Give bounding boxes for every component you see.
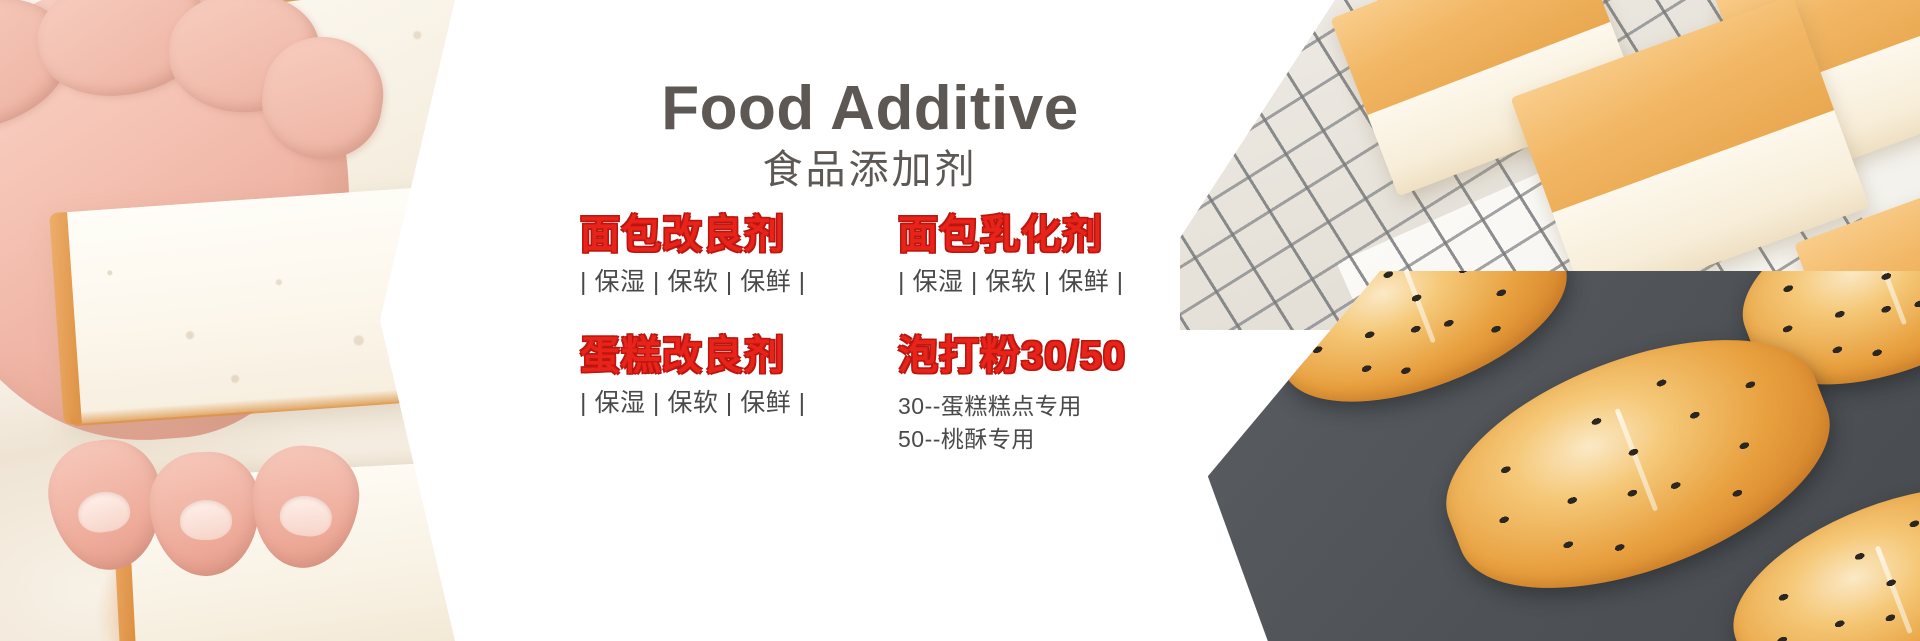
product-features-bread-emulsifier: | 保湿 | 保软 | 保鲜 | [898,266,1180,299]
product-features-cake-improver: | 保湿 | 保软 | 保鲜 | [580,387,870,420]
product-cell-bread-improver: 面包改良剂 | 保湿 | 保软 | 保鲜 | [560,212,870,299]
product-cell-baking-powder: 泡打粉30/50 30--蛋糕糕点专用 50--桃酥专用 [870,333,1180,456]
product-cell-bread-emulsifier: 面包乳化剂 | 保湿 | 保软 | 保鲜 | [870,212,1180,299]
product-row-2: 蛋糕改良剂 | 保湿 | 保软 | 保鲜 | 泡打粉30/50 30--蛋糕糕点… [560,333,1180,456]
row-spacer [560,299,1180,333]
baking-powder-note-30: 30--蛋糕糕点专用 [898,390,1180,423]
product-name-cake-improver: 蛋糕改良剂 [580,333,870,380]
product-features-bread-improver: | 保湿 | 保软 | 保鲜 | [580,266,870,299]
product-name-baking-powder: 泡打粉30/50 [898,333,1180,380]
product-name-bread-emulsifier: 面包乳化剂 [898,212,1180,259]
page-title-chinese: 食品添加剂 [560,150,1180,190]
product-name-bread-improver: 面包改良剂 [580,212,870,259]
product-grid: 面包改良剂 | 保湿 | 保软 | 保鲜 | 面包乳化剂 | 保湿 | 保软 |… [560,212,1180,455]
fingernail [180,500,233,541]
product-cell-cake-improver: 蛋糕改良剂 | 保湿 | 保软 | 保鲜 | [560,333,870,456]
baking-powder-note-50: 50--桃酥专用 [898,423,1180,456]
page-title-english: Food Additive [560,78,1180,140]
banner-content: Food Additive 食品添加剂 面包改良剂 | 保湿 | 保软 | 保鲜… [560,0,1180,641]
product-notes-baking-powder: 30--蛋糕糕点专用 50--桃酥专用 [898,390,1180,455]
product-row-1: 面包改良剂 | 保湿 | 保软 | 保鲜 | 面包乳化剂 | 保湿 | 保软 |… [560,212,1180,299]
food-additive-banner: Food Additive 食品添加剂 面包改良剂 | 保湿 | 保软 | 保鲜… [0,0,1920,641]
